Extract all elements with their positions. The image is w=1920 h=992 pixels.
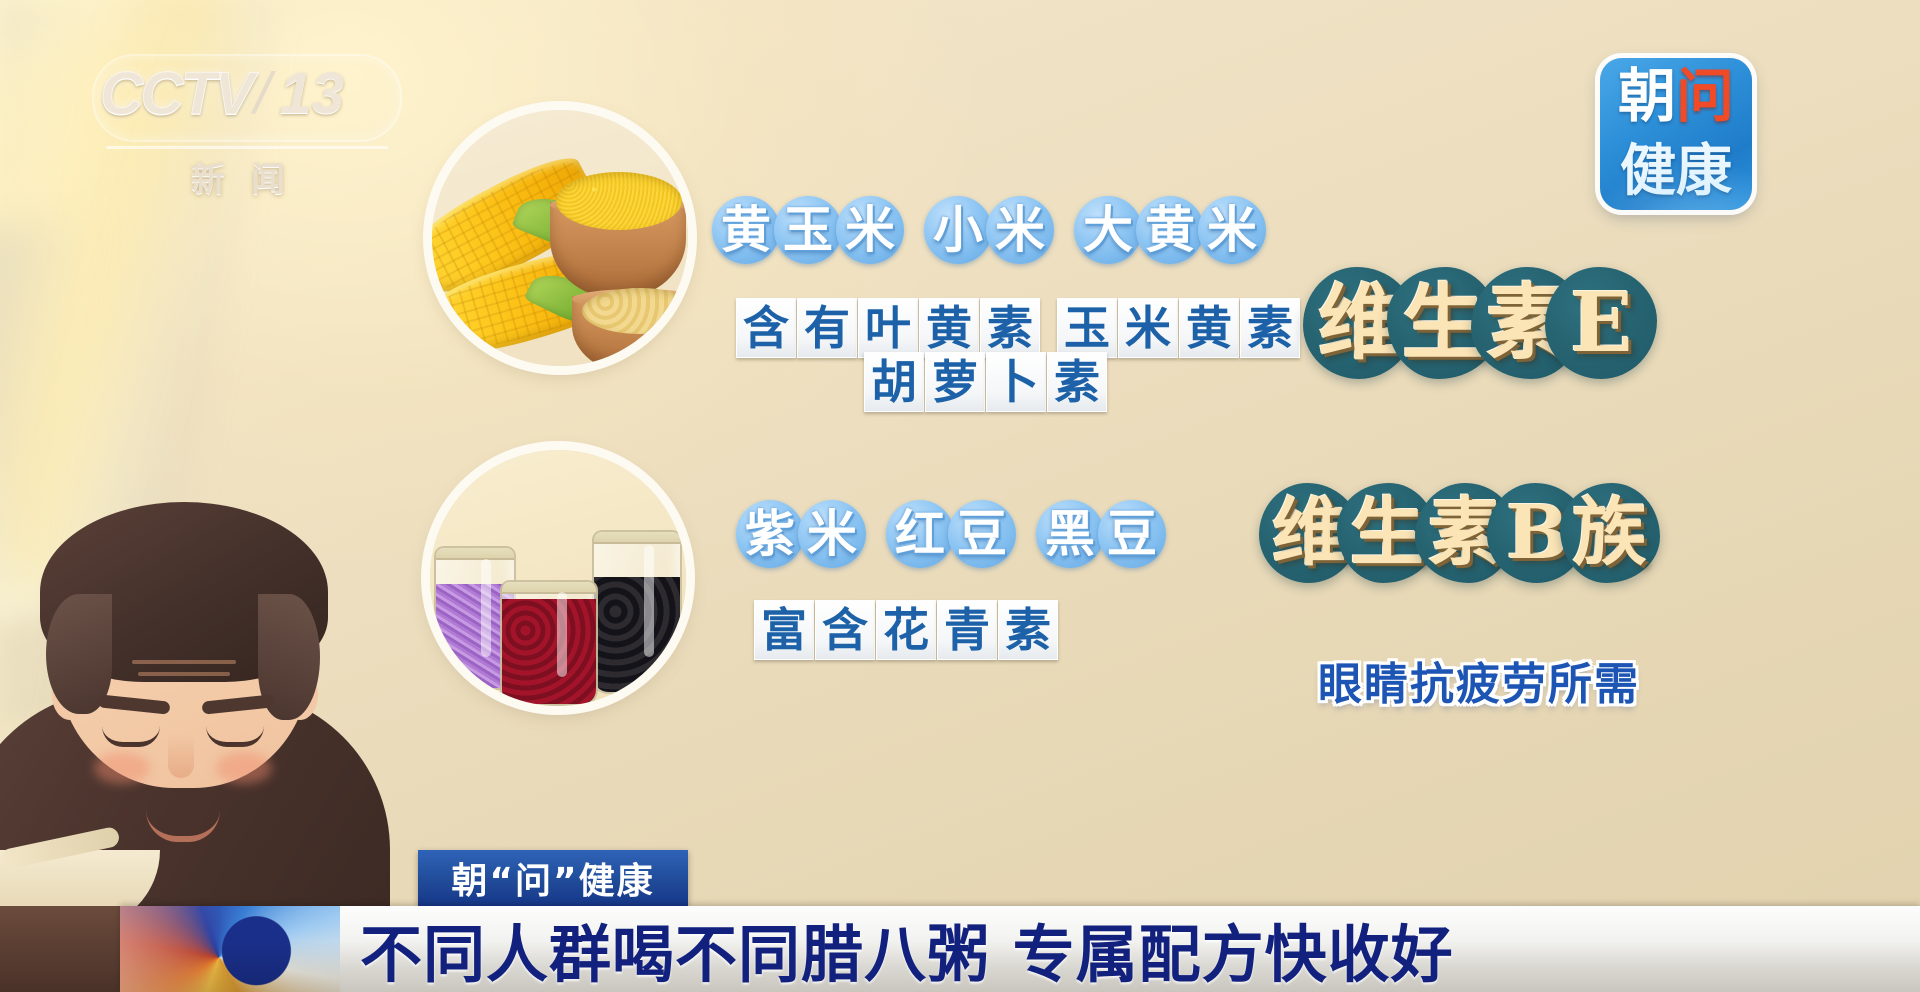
badge-char-chao: 朝 — [1618, 67, 1676, 125]
detail-char: 青 — [937, 600, 997, 660]
detail-char: 叶 — [858, 298, 918, 358]
cctv13-channel-logo: CCTV / 13 新闻 — [100, 60, 400, 188]
lower-third-left-edge — [0, 906, 122, 992]
detail-char: 素 — [998, 600, 1058, 660]
bubble-char: 豆 — [1098, 500, 1166, 568]
detail-char: 素 — [1240, 298, 1300, 358]
yellow-grain-detail-line-2: 胡 萝 卜 素 — [864, 352, 1108, 412]
black-bean-fill — [594, 577, 680, 692]
jar-glare — [481, 559, 491, 657]
badge-line-1: 朝 问 — [1600, 58, 1752, 134]
detail-char: 素 — [980, 298, 1040, 358]
detail-char: 含 — [736, 298, 796, 358]
bubble-char: 黄 — [712, 196, 780, 264]
yellow-beans — [582, 288, 688, 334]
nutrient-caption: 眼睛抗疲劳所需 — [1318, 648, 1640, 712]
millet-grains — [556, 172, 682, 230]
yellow-grain-detail-line-1: 含 有 叶 黄 素 玉 米 黄 素 — [736, 298, 1301, 358]
detail-char: 素 — [1047, 352, 1107, 412]
detail-char: 玉 — [1057, 298, 1117, 358]
detail-char: 卜 — [986, 352, 1046, 412]
bubble-char: 米 — [986, 196, 1054, 264]
bubble-char: 黑 — [1036, 500, 1104, 568]
jar-glare — [644, 545, 654, 657]
detail-char: 胡 — [864, 352, 924, 412]
detail-char: 有 — [797, 298, 857, 358]
corn-and-millet-photo — [432, 110, 688, 366]
bubble-char: 红 — [886, 500, 954, 568]
broadcast-frame: CCTV / 13 新闻 朝 问 健 康 — [0, 0, 1920, 992]
jar-neck — [592, 530, 682, 544]
jar-glare — [557, 592, 567, 677]
detail-char: 萝 — [925, 352, 985, 412]
badge-char-wen: 问 — [1676, 67, 1734, 125]
vitamin-char: 族 — [1567, 496, 1653, 570]
bubble-char: 玉 — [774, 196, 842, 264]
badge-char-kang: 康 — [1676, 144, 1732, 200]
person-nose — [168, 734, 194, 778]
bubble-char: 米 — [836, 196, 904, 264]
bubble-char: 大 — [1074, 196, 1142, 264]
person-cheek-blush — [216, 752, 272, 784]
purple-rice-red-bean-black-bean-photo — [430, 450, 686, 706]
yellow-grain-headline: 黄 玉 米 小 米 大 黄 米 — [712, 196, 1260, 264]
bubble-char: 豆 — [948, 500, 1016, 568]
vitamin-e-label: 维 生 素 E — [1312, 282, 1629, 364]
badge-char-jian: 健 — [1620, 144, 1676, 200]
lower-third-program-tag: 朝“问”健康 — [418, 850, 688, 906]
vitamin-b-label: 维 生 素 B 族 — [1266, 496, 1645, 570]
news-globe-graphic — [120, 906, 340, 992]
bubble-char: 黄 — [1136, 196, 1204, 264]
detail-char: 富 — [754, 600, 814, 660]
detail-char: 花 — [876, 600, 936, 660]
bubble-char: 小 — [924, 196, 992, 264]
detail-char: 米 — [1118, 298, 1178, 358]
red-bean-jar — [500, 580, 598, 706]
person-cheek-blush — [94, 752, 150, 784]
program-badge: 朝 问 健 康 — [1600, 58, 1752, 210]
person-forehead-wrinkle — [138, 672, 230, 676]
cctv-underline — [106, 146, 388, 149]
lower-third-tag-text: 朝“问”健康 — [451, 852, 654, 904]
person-forehead-wrinkle — [132, 660, 236, 664]
vitamin-char: E — [1564, 282, 1639, 364]
bubble-char: 米 — [798, 500, 866, 568]
bubble-char: 米 — [1198, 196, 1266, 264]
black-bean-jar — [592, 530, 682, 694]
bubble-char: 紫 — [736, 500, 804, 568]
purple-grain-detail-line-1: 富 含 花 青 素 — [754, 600, 1059, 660]
cctv-sub-label: 新闻 — [146, 152, 356, 201]
detail-char: 黄 — [919, 298, 979, 358]
purple-grain-headline: 紫 米 红 豆 黑 豆 — [736, 500, 1160, 568]
red-bean-fill — [502, 599, 596, 704]
badge-line-2: 健 康 — [1600, 134, 1752, 210]
jar-neck — [434, 546, 516, 560]
detail-char: 黄 — [1179, 298, 1239, 358]
elderly-man-illustration — [0, 520, 390, 920]
cctv-logo-pill — [92, 54, 402, 142]
detail-char: 含 — [815, 600, 875, 660]
jar-neck — [500, 580, 598, 594]
lower-third-headline: 不同人群喝不同腊八粥 专属配方快收好 — [360, 908, 1880, 990]
